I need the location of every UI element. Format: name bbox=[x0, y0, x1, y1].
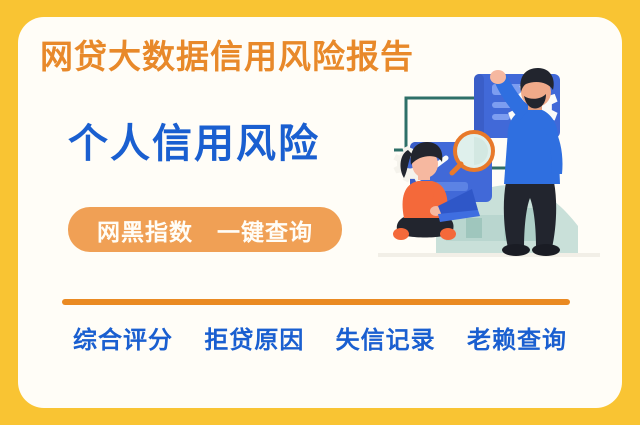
standing-person-shoe-right bbox=[532, 244, 560, 256]
section-divider bbox=[62, 299, 570, 305]
standing-person-shoe-left bbox=[502, 244, 530, 256]
woman-foot-left bbox=[393, 228, 409, 240]
standing-person-hand bbox=[490, 70, 506, 84]
footer-link-1[interactable]: 综合评分 bbox=[73, 327, 173, 354]
background-box-detail bbox=[466, 218, 482, 238]
query-cta-button[interactable]: 网黑指数 一键查询 bbox=[68, 207, 342, 252]
credit-risk-report-illustration bbox=[378, 58, 600, 286]
woman-foot-right bbox=[440, 228, 456, 240]
footer-link-row: 综合评分 拒贷原因 失信记录 老赖查询 bbox=[0, 320, 640, 355]
query-cta-label: 网黑指数 一键查询 bbox=[97, 213, 313, 247]
footer-link-3[interactable]: 失信记录 bbox=[336, 327, 436, 354]
ground-line bbox=[378, 253, 600, 257]
subheading-text: 个人信用风险 bbox=[68, 124, 398, 164]
footer-link-2[interactable]: 拒贷原因 bbox=[204, 327, 304, 354]
magnifier-icon bbox=[452, 132, 493, 173]
poster-root: 网贷大数据信用风险报告 个人信用风险 网黑指数 一键查询 综合评分 拒贷原因 失… bbox=[0, 0, 640, 425]
footer-link-4[interactable]: 老赖查询 bbox=[467, 327, 567, 354]
